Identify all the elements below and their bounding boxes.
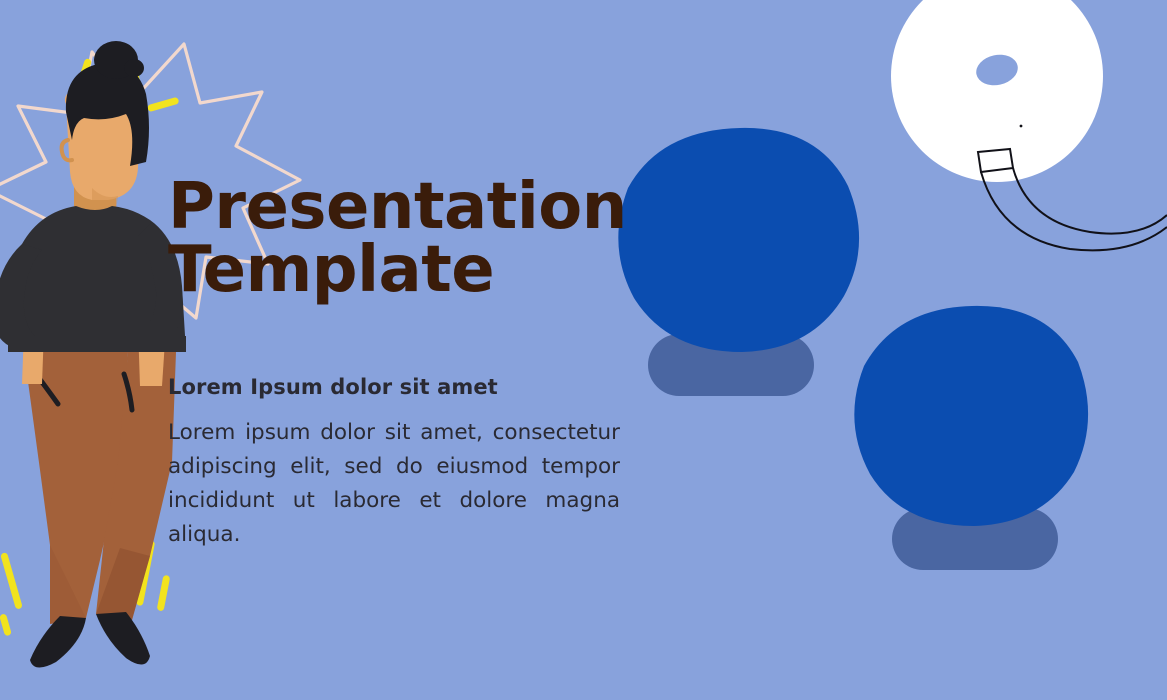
tiny-dot — [1020, 125, 1023, 128]
yellow-accent-dashes-top — [75, 50, 180, 113]
presentation-slide: Presentation Template Lorem Ipsum dolor … — [0, 0, 1167, 700]
yellow-accent-dashes-bottom — [0, 540, 170, 636]
slide-body-text: Lorem ipsum dolor sit amet, consectetur … — [168, 399, 620, 552]
slide-subheading: Lorem Ipsum dolor sit amet — [168, 301, 628, 399]
blue-blob-top-shadow — [648, 334, 814, 396]
circle-inner-hole — [973, 51, 1020, 89]
curved-ribbon-lines — [978, 149, 1167, 250]
standing-person-illustration — [0, 41, 186, 668]
slide-text-block: Presentation Template Lorem Ipsum dolor … — [168, 176, 628, 552]
blue-blob-bottom — [854, 306, 1088, 570]
blue-blob-top — [618, 128, 859, 396]
blue-blob-bottom-shadow — [892, 508, 1058, 570]
white-circle-decoration — [891, 0, 1103, 182]
page-title: Presentation Template — [168, 176, 628, 301]
